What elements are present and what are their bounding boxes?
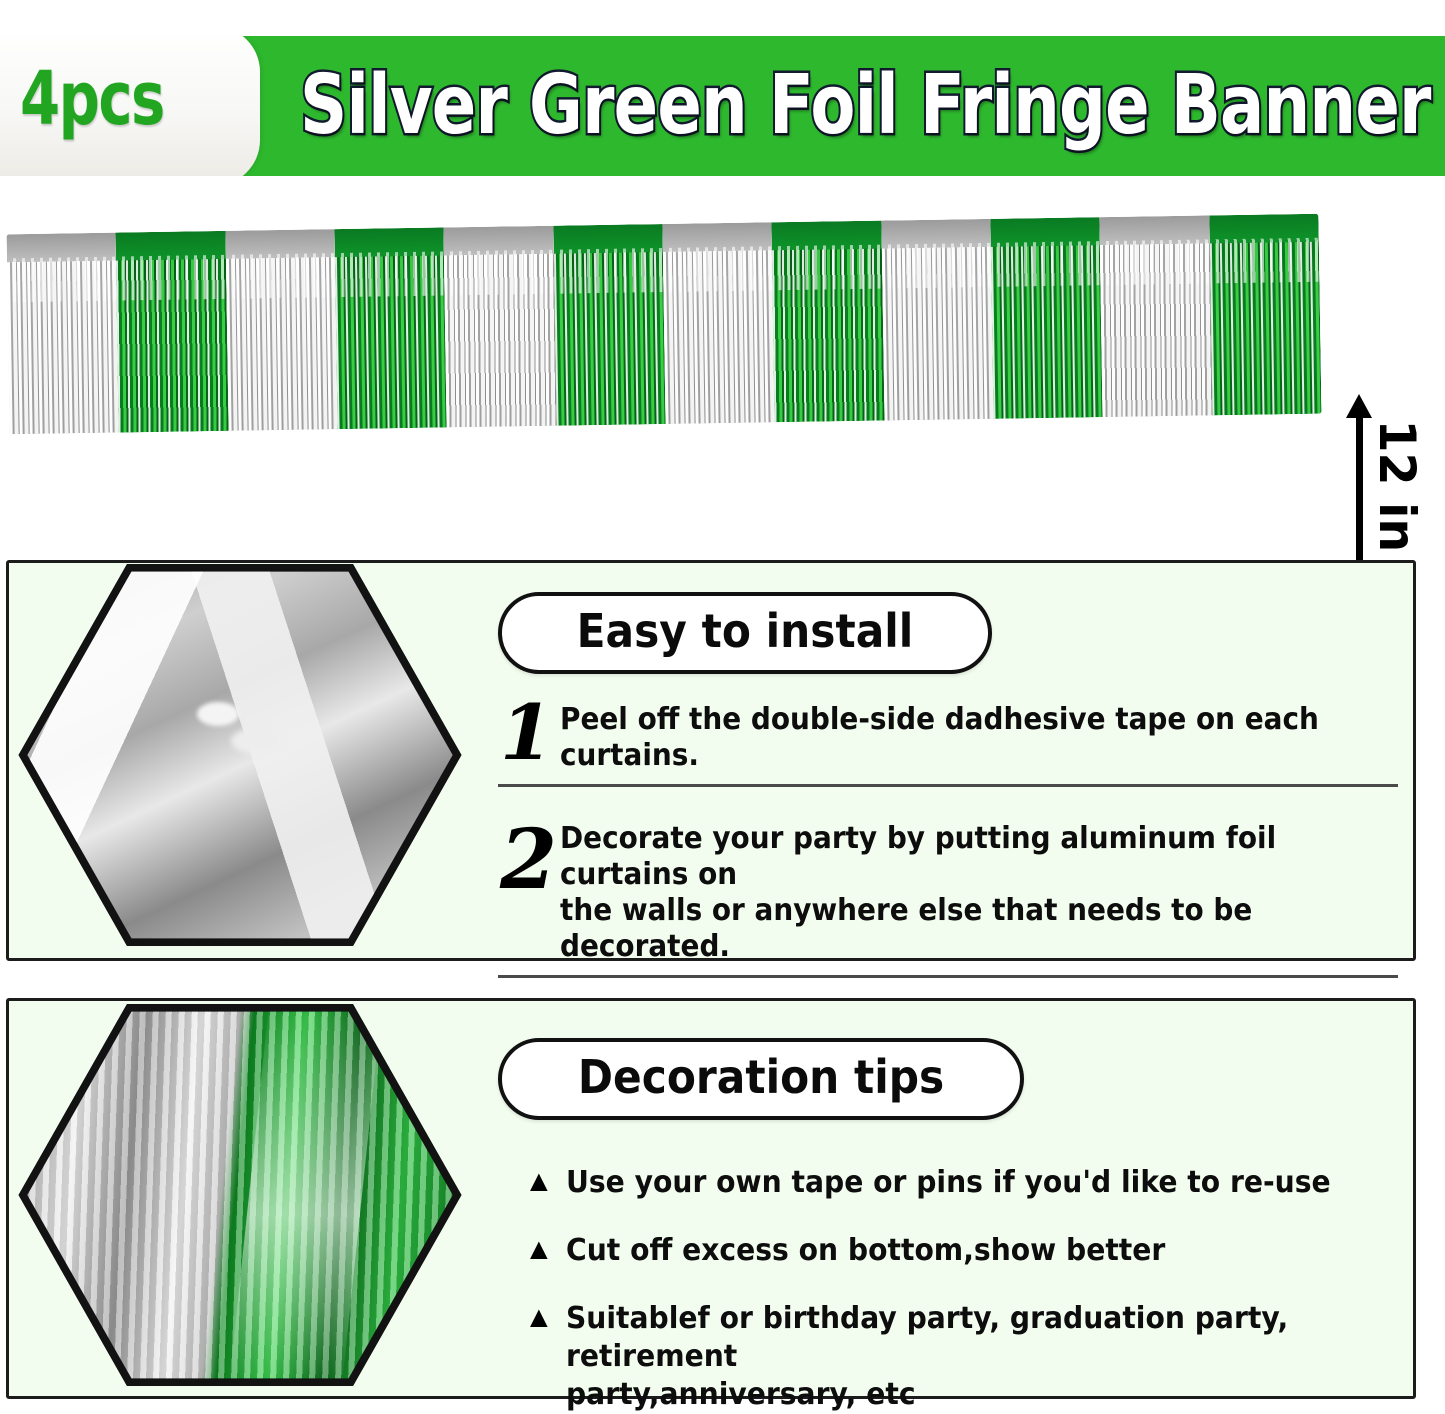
fringe-speckle [1209, 238, 1319, 284]
fringe-speckle [991, 241, 1101, 287]
install-photo-hexagon [14, 556, 466, 954]
install-heading-label: Easy to install [577, 605, 914, 657]
fringe-speckle [226, 253, 336, 299]
fringe-panel-silver [662, 222, 774, 424]
quantity-badge: 4pcs [0, 36, 260, 176]
decoration-tip-item: ▲Suitablef or birthday party, graduation… [498, 1300, 1398, 1414]
photo-highlight [231, 728, 285, 754]
quantity-badge-label: 4pcs [20, 44, 164, 154]
height-dimension-label: 12 in [1368, 419, 1426, 552]
product-title: Silver Green Foil Fringe Banner [300, 50, 1431, 162]
fringe-panel-green [1209, 214, 1321, 416]
decoration-tip-item: ▲Use your own tape or pins if you'd like… [498, 1164, 1398, 1202]
product-image-fringe-banner [8, 224, 1320, 439]
fringe-speckle [335, 251, 445, 297]
fringe-speckle [444, 250, 554, 296]
header-banner: 4pcs Silver Green Foil Fringe Banner [0, 36, 1445, 176]
hexagon-photo-clip [23, 564, 457, 946]
product-dimension-area: 12 in 10 ft [0, 176, 1445, 546]
photo-highlight [197, 702, 239, 726]
fringe-panel-silver [7, 233, 119, 435]
photo-sheen [229, 1004, 382, 1386]
decoration-tip-text: Suitablef or birthday party, graduation … [566, 1300, 1348, 1376]
silver-green-foil-photo [23, 1004, 457, 1386]
triangle-bullet-icon: ▲ [524, 1300, 554, 1336]
tips-heading-label: Decoration tips [578, 1051, 944, 1103]
install-step-number: 2 [500, 823, 557, 897]
tips-content-column: Decoration tips ▲Use your own tape or pi… [498, 1038, 1398, 1414]
triangle-bullet-icon: ▲ [524, 1164, 554, 1200]
install-step-number: 1 [500, 696, 553, 770]
install-heading-pill: Easy to install [498, 592, 992, 674]
hexagon-photo-clip [23, 1004, 457, 1386]
decoration-tip-text: Cut off excess on bottom,show better [566, 1232, 1165, 1270]
install-step-text: Decorate your party by putting aluminum … [560, 821, 1339, 893]
decoration-tip-text-block: Cut off excess on bottom,show better [566, 1232, 1204, 1270]
fringe-speckle [553, 248, 663, 294]
fringe-panel-green [116, 231, 228, 433]
fringe-panel-silver [1100, 215, 1212, 417]
adhesive-tape-photo [23, 564, 457, 946]
install-content-column: Easy to install 1Peel off the double-sid… [498, 592, 1398, 978]
fringe-panel-green [990, 217, 1102, 419]
install-steps-list: 1Peel off the double-side dadhesive tape… [498, 702, 1398, 978]
fringe-speckle [1100, 239, 1210, 285]
fringe-panel-silver [881, 219, 993, 421]
decoration-tip-text-block: Suitablef or birthday party, graduation … [566, 1300, 1398, 1414]
decoration-tip-text: party,anniversary, etc [566, 1376, 1348, 1414]
tips-photo-hexagon [14, 996, 466, 1394]
tips-heading-pill: Decoration tips [498, 1038, 1024, 1120]
decoration-tip-text: Use your own tape or pins if you'd like … [566, 1164, 1331, 1202]
fringe-speckle [116, 255, 226, 301]
fringe-panel-silver [225, 229, 337, 431]
install-step-text: Peel off the double-side dadhesive tape … [560, 702, 1339, 774]
fringe-panel-green [334, 227, 446, 429]
fringe-speckle [7, 257, 117, 303]
install-step: 1Peel off the double-side dadhesive tape… [498, 702, 1398, 787]
tips-list: ▲Use your own tape or pins if you'd like… [498, 1164, 1398, 1414]
fringe-speckle [772, 245, 882, 291]
install-step: 2Decorate your party by putting aluminum… [498, 821, 1398, 978]
fringe-panel-silver [444, 226, 556, 428]
fringe-speckle [881, 243, 991, 289]
decoration-tip-item: ▲Cut off excess on bottom,show better [498, 1232, 1398, 1270]
fringe-speckle [663, 246, 773, 292]
triangle-bullet-icon: ▲ [524, 1232, 554, 1268]
fringe-panel-green [553, 224, 665, 426]
fringe-panel-strip [7, 214, 1322, 435]
fringe-panel-green [772, 221, 884, 423]
install-step-text: the walls or anywhere else that needs to… [560, 893, 1339, 965]
decoration-tip-text-block: Use your own tape or pins if you'd like … [566, 1164, 1379, 1202]
